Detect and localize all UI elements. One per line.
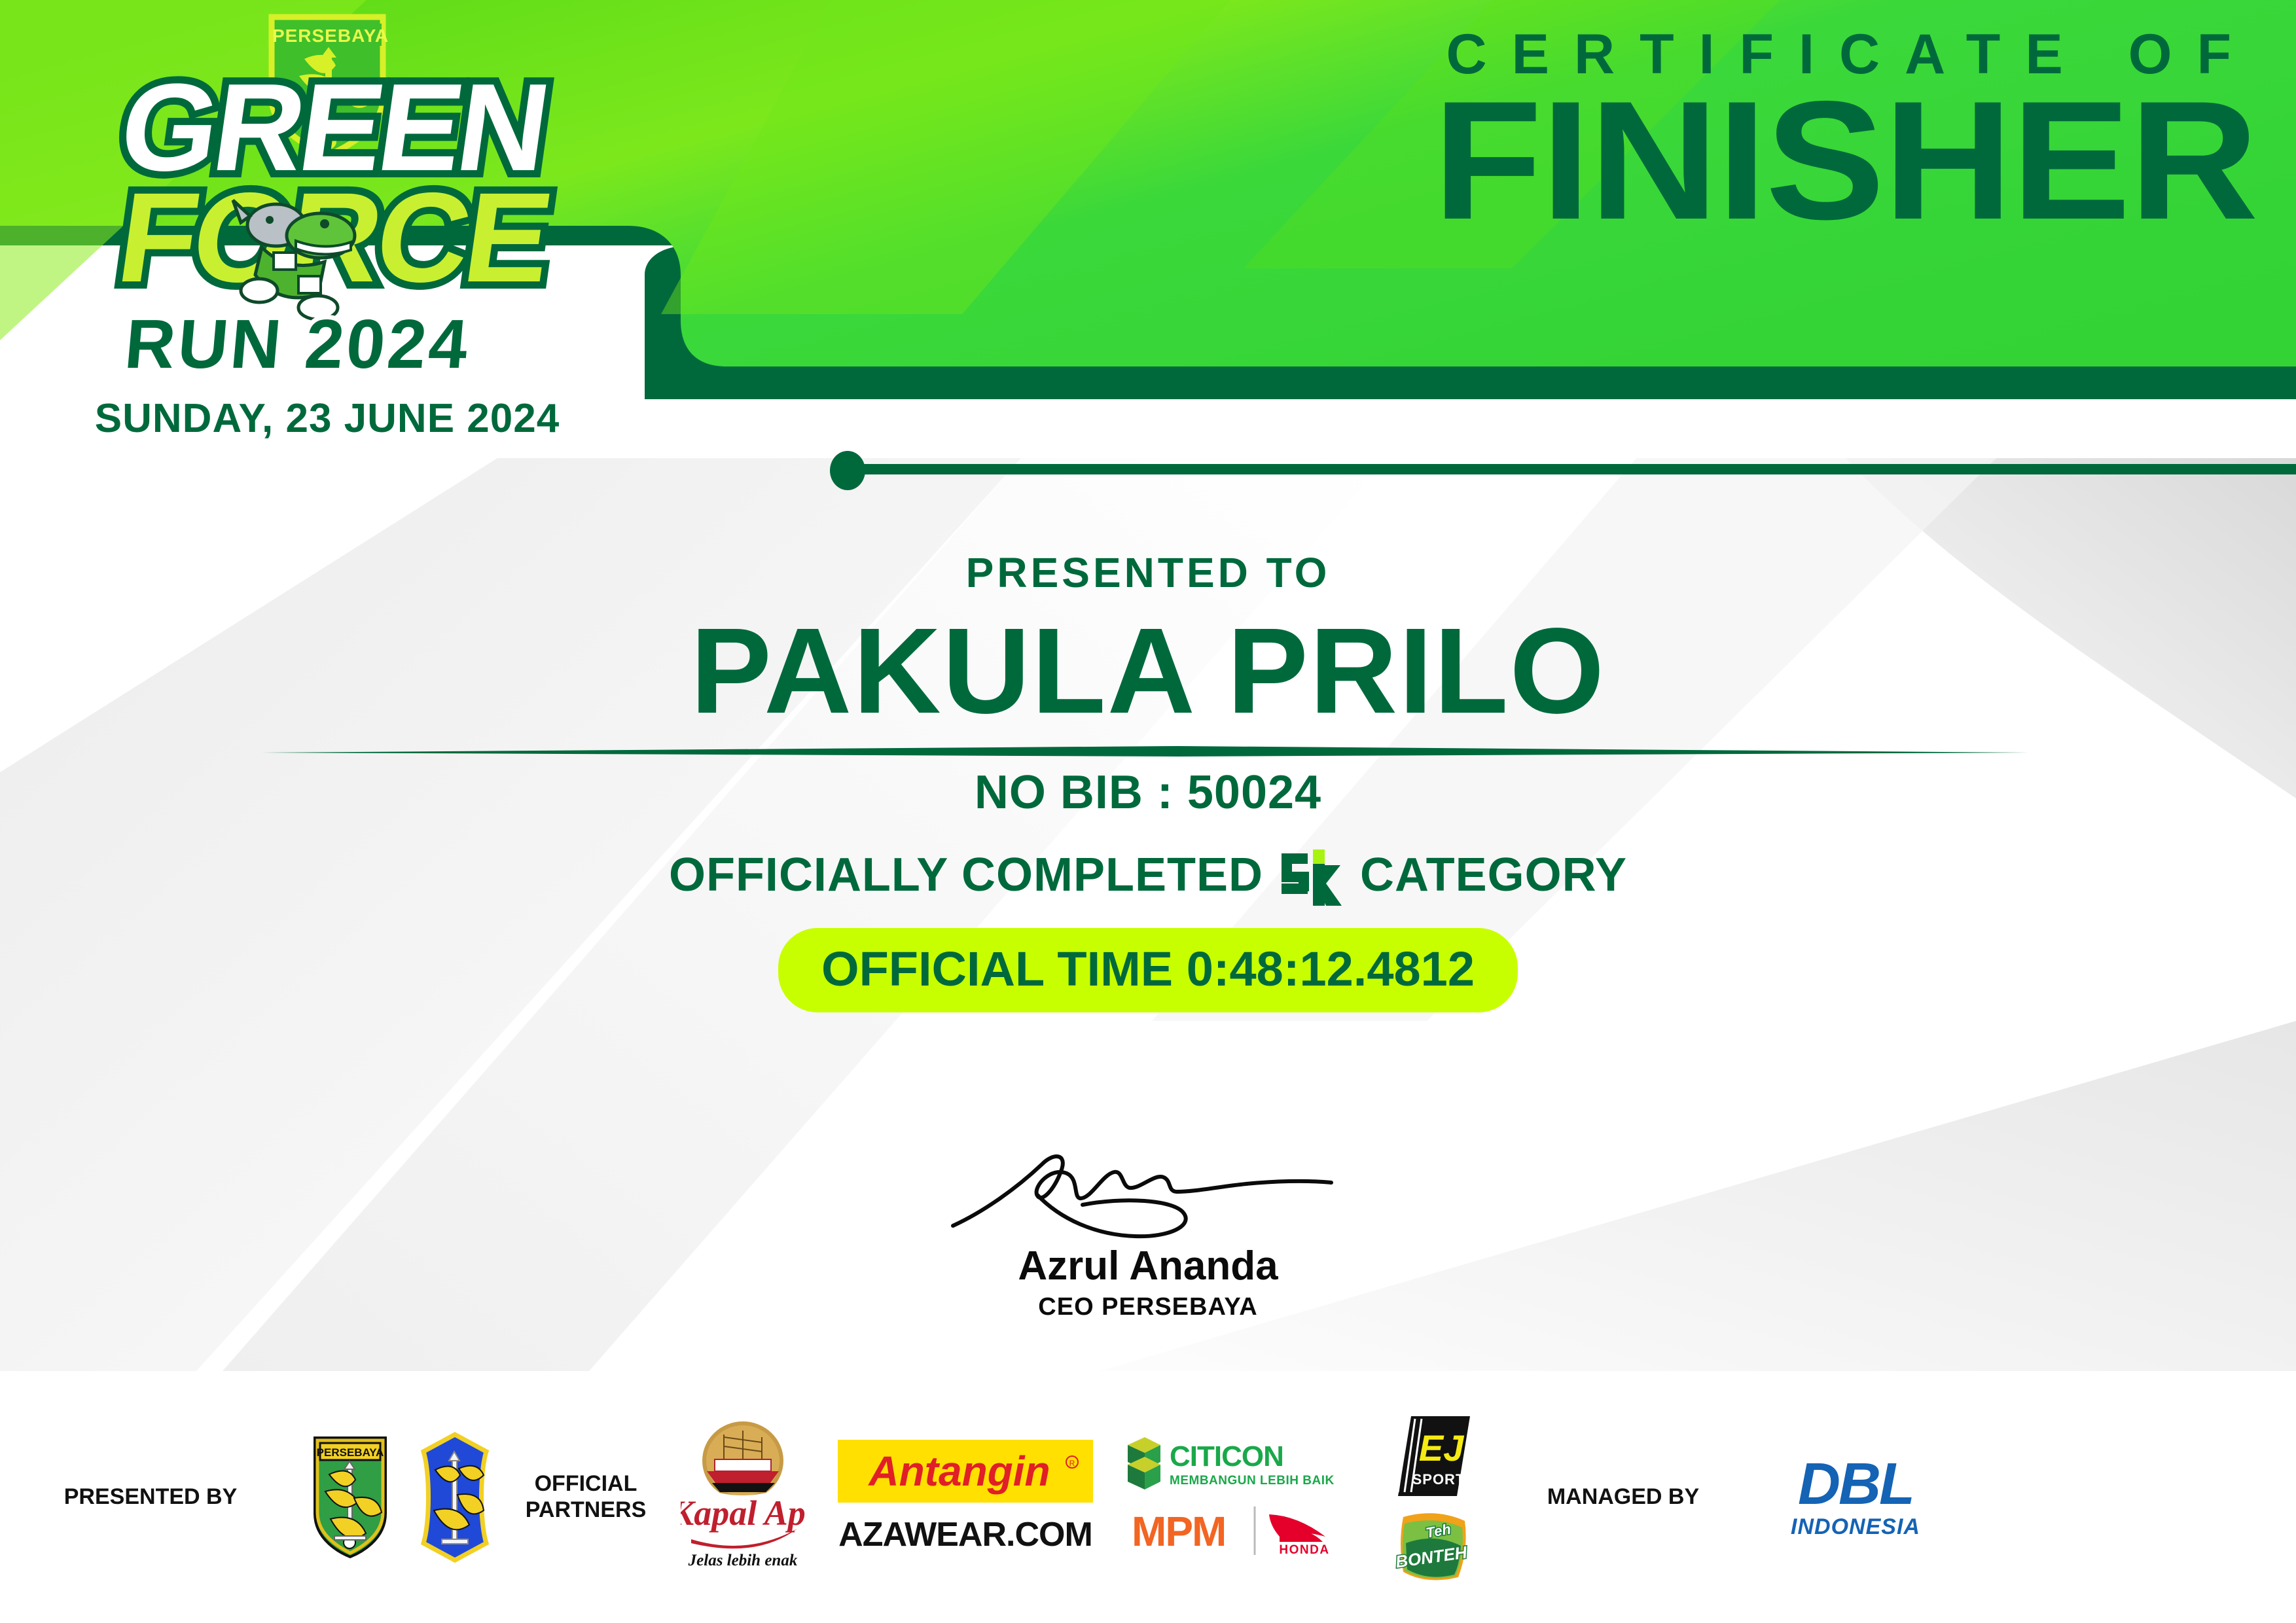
- event-date: SUNDAY, 23 JUNE 2024: [95, 396, 560, 438]
- ej-sport-tagline: SPORT: [1412, 1471, 1465, 1488]
- 5k-badge-icon: [1280, 849, 1343, 906]
- presented-by-label: PRESENTED BY: [64, 1484, 238, 1510]
- sponsor-citicon-mpm: CITICON MEMBANGUN LEBIH BAIK MPM HONDA: [1106, 1436, 1368, 1559]
- azawear-wordmark: AZAWEAR.COM: [838, 1516, 1092, 1554]
- pin-line: [859, 464, 2296, 474]
- category-prefix: OFFICIALLY COMPLETED: [669, 848, 1263, 902]
- dbl-wordmark: DBL: [1798, 1452, 1913, 1517]
- sponsor-persebaya: PERSEBAYA: [301, 1435, 399, 1560]
- dbl-indonesia-logo: DBL INDONESIA: [1757, 1452, 1954, 1543]
- official-partners-label: OFFICIAL PARTNERS: [526, 1471, 647, 1522]
- pin-divider: [830, 448, 2296, 488]
- svg-text:R: R: [1069, 1459, 1075, 1468]
- honda-wordmark: HONDA: [1279, 1543, 1329, 1557]
- official-time-wrap: OFFICIAL TIME 0:48:12.4812: [0, 928, 2296, 1012]
- certificate-canvas: PERSEBAYA GREEN FORCE: [0, 0, 2296, 1623]
- category-suffix: CATEGORY: [1360, 848, 1627, 902]
- official-partners-label-slot: OFFICIAL PARTNERS: [511, 1471, 661, 1522]
- sponsor-footer: PRESENTED BY PERSEBAYA: [0, 1371, 2296, 1623]
- citicon-wordmark: CITICON: [1170, 1440, 1283, 1472]
- presented-by-label-slot: PRESENTED BY: [0, 1484, 301, 1510]
- dbl-indonesia-tagline: INDONESIA: [1791, 1514, 1920, 1539]
- sponsor-dbl-indonesia: DBL INDONESIA: [1748, 1452, 1964, 1543]
- signature-block: Azrul Ananda CEO PERSEBAYA: [0, 1149, 2296, 1321]
- ej-sport-logo: EJ SPORT: [1394, 1414, 1473, 1499]
- name-underline-rule: [262, 742, 2029, 762]
- azawear-logo: AZAWEAR.COM: [838, 1513, 1093, 1555]
- category-line: OFFICIALLY COMPLETED CATEGORY: [0, 847, 2296, 903]
- sponsor-surabaya: [399, 1432, 511, 1563]
- sponsor-ej-bonteh: EJ SPORT Teh BONTEH: [1368, 1414, 1499, 1581]
- ej-wordmark: EJ: [1419, 1427, 1465, 1469]
- persebaya-wordmark: PERSEBAYA: [317, 1446, 384, 1459]
- antangin-wordmark: Antangin: [867, 1448, 1050, 1495]
- managed-by-label: MANAGED BY: [1547, 1484, 1699, 1510]
- certificate-header: PERSEBAYA GREEN FORCE: [0, 0, 2296, 458]
- event-logo: PERSEBAYA GREEN FORCE: [39, 7, 615, 438]
- teh-bonteh-logo: Teh BONTEH: [1394, 1509, 1473, 1581]
- citicon-logo: CITICON MEMBANGUN LEBIH BAIK: [1122, 1436, 1352, 1492]
- mpm-honda-logo: MPM HONDA: [1129, 1503, 1345, 1559]
- official-time-badge: OFFICIAL TIME 0:48:12.4812: [778, 928, 1518, 1012]
- sponsor-antangin-azawear: Antangin R AZAWEAR.COM: [825, 1440, 1106, 1555]
- managed-by-label-slot: MANAGED BY: [1499, 1484, 1748, 1510]
- certificate-body: PRESENTED TO PAKULA PRILO NO BIB : 50024…: [0, 458, 2296, 1361]
- antangin-logo: Antangin R: [838, 1440, 1093, 1503]
- kapal-api-tagline: Jelas lebih enak: [688, 1552, 798, 1569]
- citicon-tagline: MEMBANGUN LEBIH BAIK: [1170, 1474, 1335, 1488]
- sponsor-kapal-api: Kapal Api Jelas lebih enak: [661, 1420, 825, 1574]
- header-title-block: CERTIFICATE OF FINISHER: [1147, 26, 2260, 238]
- signature-icon: [939, 1149, 1357, 1247]
- bib-number: NO BIB : 50024: [0, 766, 2296, 819]
- logo-word-run2024: RUN 2024: [122, 305, 473, 383]
- svg-text:PERSEBAYA: PERSEBAYA: [272, 26, 389, 46]
- recipient-name: PAKULA PRILO: [0, 607, 2296, 735]
- mpm-wordmark: MPM: [1132, 1508, 1225, 1555]
- finisher-title: FINISHER: [1081, 82, 2260, 238]
- signer-role: CEO PERSEBAYA: [0, 1293, 2296, 1321]
- kapal-api-wordmark: Kapal Api: [681, 1493, 805, 1533]
- presented-to-label: PRESENTED TO: [0, 548, 2296, 597]
- signer-name: Azrul Ananda: [0, 1243, 2296, 1289]
